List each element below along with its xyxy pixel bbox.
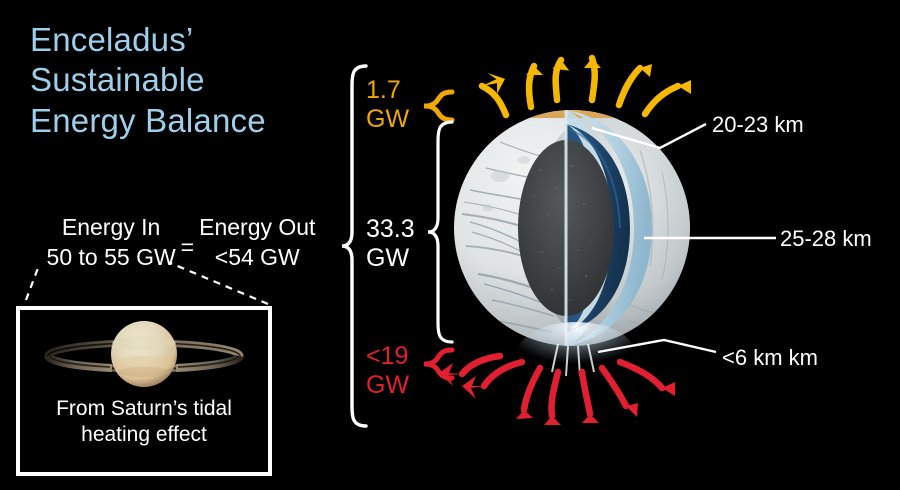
depth-label-ocean: 25-28 km bbox=[780, 226, 872, 252]
energy-out-block: Energy Out <54 GW bbox=[199, 212, 315, 273]
energy-value-plume: <19 GW bbox=[366, 342, 409, 400]
energy-in-label: Energy In bbox=[47, 212, 176, 242]
south-polar-cap bbox=[470, 306, 674, 365]
depth-label-south-polar-ice: <6 km km bbox=[722, 345, 818, 371]
energy-out-label: Energy Out bbox=[199, 212, 315, 242]
rocky-core bbox=[518, 140, 614, 316]
energy-value-plume-unit: GW bbox=[366, 371, 409, 400]
leader-south-ice bbox=[598, 340, 716, 352]
energy-in-block: Energy In 50 to 55 GW bbox=[47, 212, 176, 273]
energy-in-value: 50 to 55 GW bbox=[47, 242, 176, 272]
title-line-3: Energy Balance bbox=[30, 101, 360, 141]
heat-arrows-bottom bbox=[462, 356, 662, 416]
saturn-photo bbox=[20, 310, 268, 398]
heat-arrowheads-bottom bbox=[439, 363, 675, 425]
title-line-2: Sustainable bbox=[30, 60, 360, 100]
energy-value-plume-number: <19 bbox=[366, 342, 409, 371]
gold-bracket bbox=[424, 92, 452, 120]
page-title: Enceladus’ Sustainable Energy Balance bbox=[30, 20, 360, 141]
energy-value-radiated-unit: GW bbox=[366, 244, 415, 273]
energy-value-conducted-unit: GW bbox=[366, 105, 409, 134]
energy-equation: Energy In 50 to 55 GW = Energy Out <54 G… bbox=[16, 212, 346, 273]
ocean-layer bbox=[566, 124, 630, 332]
plume-glow bbox=[518, 322, 634, 382]
leader-ice-shell bbox=[592, 124, 706, 148]
depth-leader-lines bbox=[592, 124, 776, 352]
inset-caption: From Saturn’s tidal heating effect bbox=[20, 396, 268, 449]
depth-label-ice-shell: 20-23 km bbox=[712, 112, 804, 138]
inset-caption-line-1: From Saturn’s tidal bbox=[20, 396, 268, 422]
saturn-inset-panel: From Saturn’s tidal heating effect bbox=[16, 306, 272, 476]
energy-value-conducted-number: 1.7 bbox=[366, 76, 409, 105]
plume-jets bbox=[552, 344, 594, 376]
energy-value-conducted: 1.7 GW bbox=[366, 76, 409, 134]
energy-value-radiated: 33.3 GW bbox=[366, 215, 415, 273]
equals-sign: = bbox=[176, 234, 199, 261]
energy-value-radiated-number: 33.3 bbox=[366, 215, 415, 244]
heat-arrowheads-top bbox=[478, 58, 691, 98]
red-bracket bbox=[424, 350, 452, 378]
inset-caption-line-2: heating effect bbox=[20, 422, 268, 448]
heat-arrows-top bbox=[482, 58, 678, 115]
energy-out-value: <54 GW bbox=[199, 242, 315, 272]
title-line-1: Enceladus’ bbox=[30, 20, 360, 60]
ice-shell-layer bbox=[566, 110, 652, 346]
enceladus-globe bbox=[454, 110, 690, 346]
white-bracket bbox=[428, 122, 452, 342]
infographic-canvas: Enceladus’ Sustainable Energy Balance En… bbox=[0, 0, 900, 490]
north-polar-cap bbox=[470, 91, 674, 150]
